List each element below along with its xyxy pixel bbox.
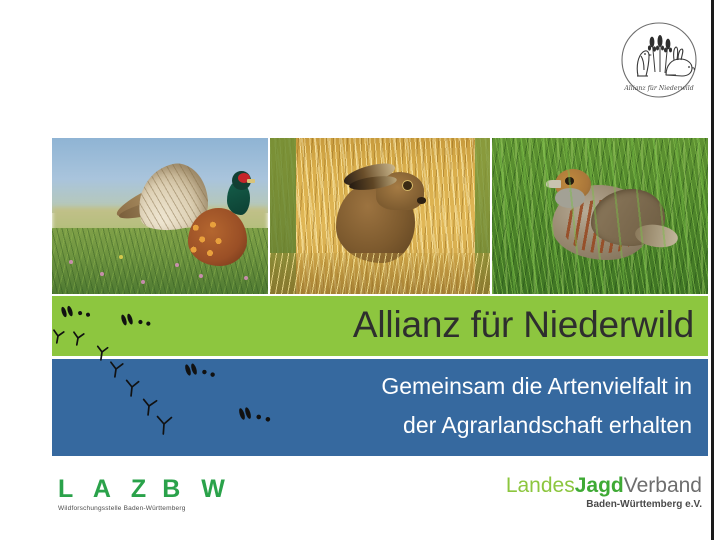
slide-right-edge-rule [711,0,714,540]
hare-nose [417,197,426,203]
subtitle-block: Gemeinsam die Artenvielfalt in der Agrar… [52,367,692,445]
ljv-logo: LandesJagdVerband Baden-Württemberg e.V. [506,474,702,510]
subtitle-line-2: der Agrarlandschaft erhalten [52,406,692,445]
allianz-fuer-niederwild-seal-icon: Allianz für Niederwild [614,20,704,106]
hare-stubble-foreground [270,253,490,294]
lazbw-letters-right: B W [162,476,232,502]
lazbw-subtitle: Wildforschungsstelle Baden-Württemberg [58,505,228,512]
seal-caption-text: Allianz für Niederwild [623,85,693,92]
ljv-word-verband: Verband [624,474,702,497]
lazbw-logo: L A Z B W Wildforschungsstelle Baden-Wür… [58,476,228,518]
subtitle-band-blue: Gemeinsam die Artenvielfalt in der Agrar… [52,359,708,456]
ljv-subtitle: Baden-Württemberg e.V. [506,499,702,510]
lazbw-bars-icon [154,479,156,500]
ljv-word-landes: Landes [506,474,575,497]
subtitle-line-1: Gemeinsam die Artenvielfalt in [52,367,692,406]
photo-strip [52,138,708,294]
hare-photo [270,138,490,294]
partridge-foreground-blades [492,138,708,294]
ljv-word-jagd: Jagd [575,474,624,497]
hare-eye [402,180,413,191]
page-title: Allianz für Niederwild [353,304,694,346]
ljv-wordmark: LandesJagdVerband [506,474,702,497]
lazbw-wordmark: L A Z B W [58,476,228,502]
partridge-photo [492,138,708,294]
lazbw-letters-left: L A Z [58,476,153,502]
pheasant-breast-spots [185,217,228,260]
pheasant-bird [121,163,255,275]
presentation-slide: Allianz für Niederwild [0,0,720,540]
pheasant-photo [52,138,268,294]
pheasant-beak [247,179,255,183]
title-band-green: Allianz für Niederwild [52,296,708,356]
